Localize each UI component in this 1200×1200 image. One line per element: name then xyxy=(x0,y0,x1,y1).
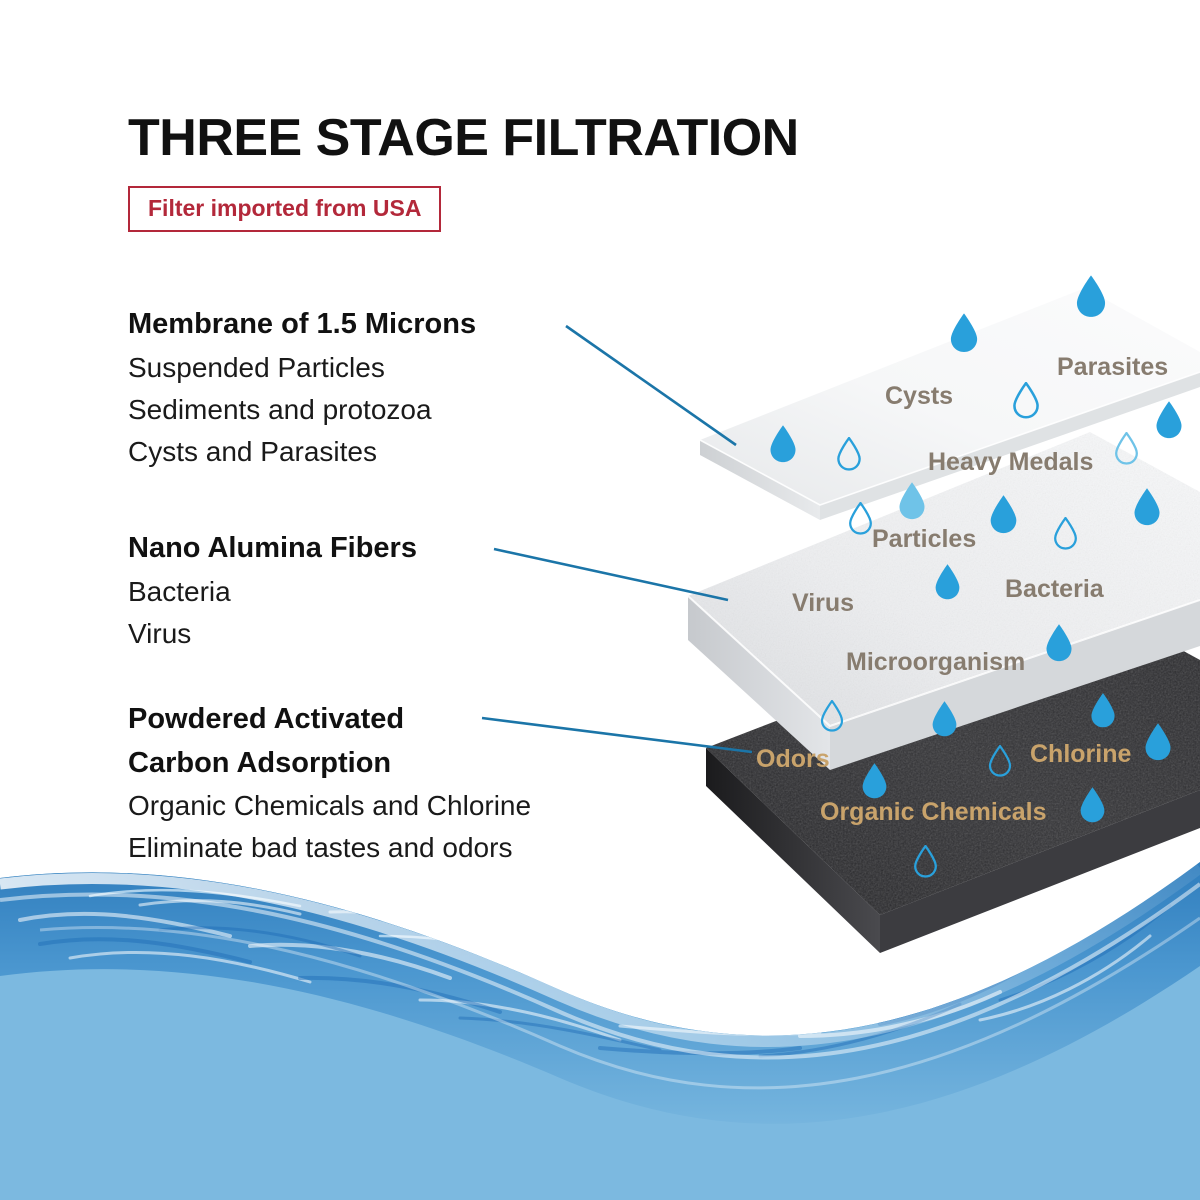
slab-label-bacteria: Bacteria xyxy=(1005,575,1104,604)
stage-line-nano-alumina-1: Virus xyxy=(128,613,417,655)
water-droplet-icon xyxy=(1053,517,1078,550)
stage-line-carbon-1: Eliminate bad tastes and odors xyxy=(128,827,531,869)
stage-line-membrane-1: Sediments and protozoa xyxy=(128,389,476,431)
infographic-page: THREE STAGE FILTRATION Filter imported f… xyxy=(0,0,1200,1200)
stage-line-membrane-2: Cysts and Parasites xyxy=(128,431,476,473)
water-droplet-icon xyxy=(860,762,889,800)
water-droplet-icon xyxy=(1012,382,1040,419)
stage-line-membrane-0: Suspended Particles xyxy=(128,347,476,389)
water-droplet-icon xyxy=(1132,487,1162,527)
water-droplet-icon xyxy=(1114,432,1139,465)
stage-line-nano-alumina-0: Bacteria xyxy=(128,571,417,613)
water-droplet-icon xyxy=(988,494,1019,535)
slab-label-particles: Particles xyxy=(872,525,976,554)
stage-heading-carbon-2: Carbon Adsorption xyxy=(128,742,531,786)
slab-label-virus: Virus xyxy=(792,589,854,618)
slab-label-cysts: Cysts xyxy=(885,382,953,411)
water-droplet-icon xyxy=(1154,400,1184,440)
water-droplet-icon xyxy=(1074,274,1108,319)
water-droplet-icon xyxy=(1078,786,1107,824)
stage-block-nano-alumina: Nano Alumina Fibers Bacteria Virus xyxy=(128,527,417,655)
stage-line-carbon-0: Organic Chemicals and Chlorine xyxy=(128,785,531,827)
slab-label-microorganism: Microorganism xyxy=(846,648,1025,677)
water-droplet-icon xyxy=(848,502,873,535)
stage-heading-carbon: Powdered Activated xyxy=(128,698,531,742)
stage-block-carbon: Powdered Activated Carbon Adsorption Org… xyxy=(128,698,531,869)
water-droplet-icon xyxy=(820,700,844,732)
stage-block-membrane: Membrane of 1.5 Microns Suspended Partic… xyxy=(128,303,476,473)
stage-heading-nano-alumina: Nano Alumina Fibers xyxy=(128,527,417,571)
stage-heading-membrane: Membrane of 1.5 Microns xyxy=(128,303,476,347)
slab-label-parasites: Parasites xyxy=(1057,353,1168,382)
water-droplet-icon xyxy=(1044,623,1074,663)
water-droplet-icon xyxy=(1143,722,1173,762)
slab-label-heavy-medals: Heavy Medals xyxy=(928,448,1093,477)
water-droplet-icon xyxy=(948,312,980,354)
water-droplet-icon xyxy=(768,424,798,464)
water-droplet-icon xyxy=(1089,692,1117,729)
water-droplet-icon xyxy=(933,563,962,601)
water-droplet-icon xyxy=(836,437,862,471)
water-droplet-icon xyxy=(913,845,938,878)
slab-label-odors: Odors xyxy=(756,745,830,774)
slab-label-chlorine: Chlorine xyxy=(1030,740,1131,769)
water-droplet-icon xyxy=(988,745,1012,777)
water-droplet-icon xyxy=(930,700,959,738)
slab-label-organic-chemicals: Organic Chemicals xyxy=(820,798,1046,827)
water-droplet-icon xyxy=(897,481,927,521)
